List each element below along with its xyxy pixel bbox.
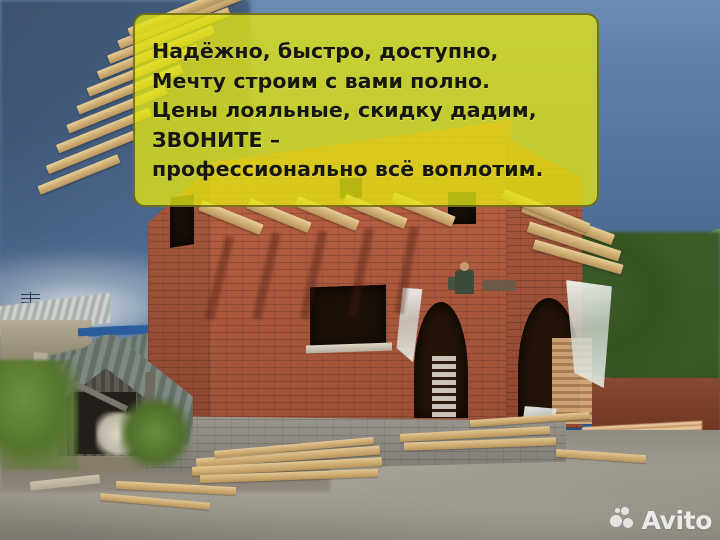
avito-logo-icon <box>610 507 636 533</box>
construction-worker <box>455 270 474 294</box>
avito-watermark: Avito <box>610 507 712 533</box>
banner-text: Надёжно, быстро, доступно, Мечту строим … <box>152 37 581 185</box>
worker-head <box>460 262 469 271</box>
bush <box>0 360 78 470</box>
scaffold-in-arch <box>432 356 456 418</box>
bush <box>120 398 190 468</box>
advertising-banner: Надёжно, быстро, доступно, Мечту строим … <box>133 13 599 207</box>
avito-wordmark: Avito <box>642 508 712 533</box>
ad-photo-canvas: Надёжно, быстро, доступно, Мечту строим … <box>0 0 720 540</box>
mortar-board <box>482 280 516 291</box>
window-opening-large <box>310 285 386 350</box>
